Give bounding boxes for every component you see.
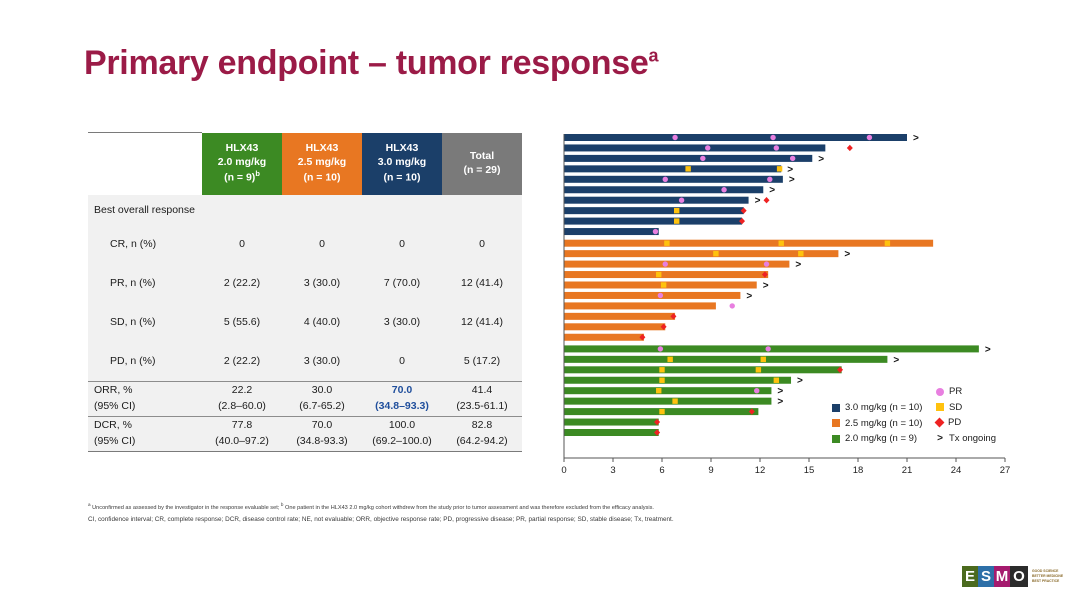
legend-marker-item: SD [936,400,996,416]
legend-series-item: 2.5 mg/kg (n = 10) [832,416,922,432]
section-label: Best overall response [88,195,202,225]
summary-value: 30.0(6.7-65.2) [282,381,362,416]
footnote-text-a: Unconfirmed as assessed by the investiga… [91,505,281,511]
swimmer-bar [564,186,763,193]
swimmer-bar [564,207,744,214]
row-value: 0 [442,225,522,264]
legend-marker-column: PRSDPD>Tx ongoing [936,384,996,446]
swimmer-bar [564,313,675,320]
swimmer-bar [564,271,768,278]
summary-value: 77.8(40.0–97.2) [202,416,282,451]
x-axis-tick-label: 0 [561,465,566,476]
table-header-row: HLX432.0 mg/kg(n = 9)bHLX432.5 mg/kg(n =… [88,133,522,195]
legend-marker-item: PR [936,384,996,400]
summary-value: 22.2(2.8–60.0) [202,381,282,416]
swimmer-bar [564,292,740,299]
swimmer-bar [564,356,887,363]
logo-letter: M [994,566,1010,587]
swimmer-bar [564,218,742,225]
row-value: 7 (70.0) [362,264,442,303]
marker-sd [656,272,661,277]
swimmer-bar [564,345,979,352]
row-value: 12 (41.4) [442,303,522,342]
footnotes: a Unconfirmed as assessed by the investi… [88,502,888,525]
legend-series-item: 3.0 mg/kg (n = 10) [832,400,922,416]
legend-series-label: 2.0 mg/kg (n = 9) [845,433,917,444]
row-value: 5 (55.6) [202,303,282,342]
marker-sd [656,388,661,393]
marker-sd [664,241,669,246]
row-label: CR, n (%) [88,225,202,264]
row-value: 0 [362,225,442,264]
swimmer-bar [564,228,659,235]
column-header-line1: Total [442,150,522,163]
marker-sd [659,378,664,383]
swimmer-bar [564,366,842,373]
esmo-logo-tagline: GOOD SCIENCE BETTER MEDICINE BEST PRACTI… [1032,569,1063,585]
summary-value: 70.0(34.8–93.3) [362,381,442,416]
tx-ongoing-arrow-icon: > [777,397,783,408]
swimmer-bar [564,334,644,341]
table-row: CR, n (%)0000 [88,225,522,264]
marker-pr [672,135,677,140]
swimmer-bar [564,240,933,247]
column-header-line1: HLX43 [282,142,362,155]
swimmer-bar [564,419,659,426]
tx-ongoing-arrow-icon: > [893,355,899,366]
footnote-text-b: One patient in the HLX43 2.0 mg/kg cohor… [283,505,654,511]
marker-sd [774,378,779,383]
legend-marker-label: PD [948,417,961,428]
column-header-2: HLX432.5 mg/kg(n = 10) [282,133,362,195]
page-title: Primary endpoint – tumor responsea [84,44,658,83]
swimmer-bar [564,144,825,151]
marker-sd [713,251,718,256]
swimmer-bar [564,387,771,394]
row-label: PR, n (%) [88,264,202,303]
swimmer-bar [564,429,659,436]
summary-label: DCR, %(95% CI) [88,416,202,451]
esmo-logo-letters: ESMO [962,566,1028,587]
logo-letter: S [978,566,994,587]
tx-ongoing-arrow-icon: > [797,376,803,387]
tagline-line-3: BEST PRACTICE [1032,579,1063,584]
marker-pr [653,229,658,234]
marker-sd [756,367,761,372]
summary-value: 100.0(69.2–100.0) [362,416,442,451]
summary-value: 70.0(34.8-93.3) [282,416,362,451]
marker-sd [798,251,803,256]
legend-swatch [832,404,840,412]
x-axis-tick-label: 24 [951,465,962,476]
logo-letter: E [962,566,978,587]
section-spacer [202,195,522,225]
legend-swatch [832,419,840,427]
marker-sd [659,409,664,414]
column-header-4: Total(n = 29) [442,133,522,195]
tx-ongoing-arrow-icon: > [795,260,801,271]
column-header-line2: 2.5 mg/kg [282,156,362,169]
row-value: 0 [202,225,282,264]
row-value: 2 (22.2) [202,342,282,382]
marker-pr [790,156,795,161]
marker-pr [721,187,726,192]
marker-pr [767,177,772,182]
legend-pd-icon [935,418,945,428]
column-header-line3: (n = 9)b [202,169,282,185]
marker-sd [674,208,679,213]
row-value: 4 (40.0) [282,303,362,342]
row-value: 3 (30.0) [362,303,442,342]
row-value: 3 (30.0) [282,342,362,382]
column-header-line2: (n = 29) [442,164,522,177]
marker-pr [705,145,710,150]
x-axis-tick-label: 12 [755,465,766,476]
table-summary-row: ORR, %(95% CI)22.2(2.8–60.0)30.0(6.7-65.… [88,381,522,416]
legend-sd-icon [936,403,944,411]
row-value: 0 [282,225,362,264]
marker-pr [658,346,663,351]
marker-sd [674,218,679,223]
marker-pr [700,156,705,161]
marker-sd [659,367,664,372]
table-row: PD, n (%)2 (22.2)3 (30.0)05 (17.2) [88,342,522,382]
marker-pd [764,197,770,203]
swimmer-bar [564,323,665,330]
summary-label: ORR, %(95% CI) [88,381,202,416]
column-header-1: HLX432.0 mg/kg(n = 9)b [202,133,282,195]
legend-marker-item: PD [936,415,996,431]
row-label: SD, n (%) [88,303,202,342]
table-summary-row: DCR, %(95% CI)77.8(40.0–97.2)70.0(34.8-9… [88,416,522,451]
legend-series-item: 2.0 mg/kg (n = 9) [832,431,922,447]
swimmer-bar [564,302,716,309]
tx-ongoing-arrow-icon: > [777,386,783,397]
swimmer-bar [564,398,771,405]
tx-ongoing-arrow-icon: > [844,249,850,260]
tx-ongoing-arrow-icon: > [769,185,775,196]
tx-ongoing-arrow-icon: > [787,164,793,175]
marker-sd [761,357,766,362]
marker-pr [658,293,663,298]
esmo-logo: ESMO GOOD SCIENCE BETTER MEDICINE BEST P… [962,566,1063,587]
swimmer-bar [564,250,838,257]
row-value: 2 (22.2) [202,264,282,303]
swimmer-bar [564,155,812,162]
legend-swatch [832,435,840,443]
marker-pr [663,261,668,266]
tx-ongoing-arrow-icon: > [789,175,795,186]
marker-pr [774,145,779,150]
tx-ongoing-arrow-icon: > [985,344,991,355]
marker-pr [730,303,735,308]
table-row: PR, n (%)2 (22.2)3 (30.0)7 (70.0)12 (41.… [88,264,522,303]
summary-value: 41.4(23.5-61.1) [442,381,522,416]
marker-sd [672,398,677,403]
column-header-3: HLX433.0 mg/kg(n = 10) [362,133,442,195]
marker-pr [764,261,769,266]
legend-marker-item: >Tx ongoing [936,431,996,447]
marker-sd [685,166,690,171]
footnote-line-2: CI, confidence interval; CR, complete re… [88,515,888,525]
legend-series-label: 3.0 mg/kg (n = 10) [845,402,922,413]
marker-pr [867,135,872,140]
legend-series-label: 2.5 mg/kg (n = 10) [845,418,922,429]
marker-sd [777,166,782,171]
marker-pd [847,145,853,151]
x-axis-tick-label: 3 [610,465,615,476]
column-header-line1: HLX43 [202,142,282,155]
marker-pr [679,198,684,203]
tx-ongoing-arrow-icon: > [746,291,752,302]
row-label: PD, n (%) [88,342,202,382]
swimmer-bar [564,134,907,141]
x-axis-tick-label: 18 [853,465,864,476]
x-axis-tick-label: 15 [804,465,815,476]
swimmer-bar [564,165,781,172]
row-value: 3 (30.0) [282,264,362,303]
response-table: HLX432.0 mg/kg(n = 9)bHLX432.5 mg/kg(n =… [88,132,522,452]
swimmer-bar [564,377,791,384]
x-axis-tick-label: 6 [659,465,664,476]
column-header-line2: 3.0 mg/kg [362,156,442,169]
logo-letter: O [1010,566,1028,587]
marker-pr [770,135,775,140]
row-value: 12 (41.4) [442,264,522,303]
summary-value: 82.8(64.2-94.2) [442,416,522,451]
marker-sd [779,241,784,246]
x-axis-tick-label: 21 [902,465,913,476]
swimmer-bar [564,197,749,204]
x-axis-tick-label: 9 [708,465,713,476]
table-row: SD, n (%)5 (55.6)4 (40.0)3 (30.0)12 (41.… [88,303,522,342]
table-section-row: Best overall response [88,195,522,225]
table-header-blank [88,133,202,195]
x-axis-tick-label: 27 [1000,465,1011,476]
legend-tx-ongoing-icon: > [936,433,944,444]
row-value: 0 [362,342,442,382]
footnote-line-1: a Unconfirmed as assessed by the investi… [88,502,888,512]
response-table-container: HLX432.0 mg/kg(n = 9)bHLX432.5 mg/kg(n =… [88,132,522,452]
swimmer-bar [564,282,757,289]
legend-series-column: 3.0 mg/kg (n = 10)2.5 mg/kg (n = 10)2.0 … [832,400,922,447]
swimmer-bar [564,176,783,183]
row-value: 5 (17.2) [442,342,522,382]
tx-ongoing-arrow-icon: > [763,280,769,291]
legend-pr-icon [936,388,944,396]
tx-ongoing-arrow-icon: > [913,133,919,144]
column-header-line3: (n = 10) [362,169,442,185]
marker-pr [754,388,759,393]
column-header-line1: HLX43 [362,142,442,155]
legend-marker-label: Tx ongoing [949,433,996,444]
tx-ongoing-arrow-icon: > [755,196,761,207]
marker-pr [663,177,668,182]
marker-sd [661,282,666,287]
tx-ongoing-arrow-icon: > [818,154,824,165]
marker-pr [765,346,770,351]
legend-marker-label: PR [949,386,962,397]
slide-root: Primary endpoint – tumor responsea HLX43… [0,0,1080,608]
marker-sd [885,241,890,246]
column-header-line2: 2.0 mg/kg [202,156,282,169]
page-title-text: Primary endpoint – tumor response [84,44,648,82]
marker-sd [667,357,672,362]
swimmer-bar [564,261,789,268]
column-header-line3: (n = 10) [282,169,362,185]
legend-marker-label: SD [949,402,962,413]
page-title-superscript: a [648,46,658,66]
